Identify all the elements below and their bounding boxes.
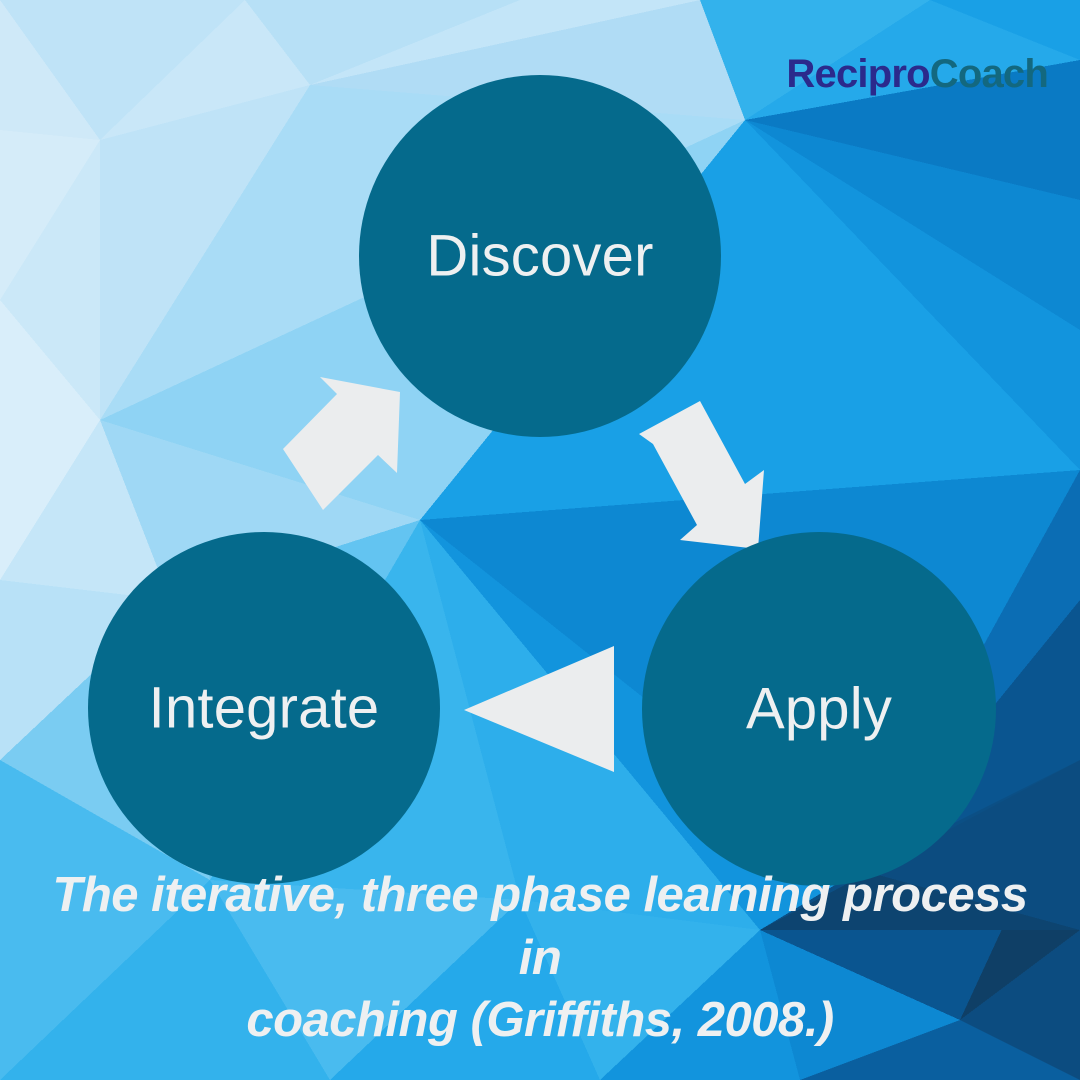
caption: The iterative, three phase learning proc…	[0, 864, 1080, 1052]
reciprocoach-logo[interactable]: ReciproCoach	[786, 52, 1048, 97]
node-label-discover: Discover	[426, 223, 653, 290]
node-label-apply: Apply	[746, 676, 892, 743]
logo-word-coach: Coach	[930, 52, 1048, 96]
logo-word-recipro: Recipro	[786, 52, 929, 96]
caption-line-2: coaching (Griffiths, 2008.)	[26, 989, 1054, 1052]
node-label-integrate: Integrate	[149, 675, 380, 742]
caption-line-1: The iterative, three phase learning proc…	[26, 864, 1054, 989]
arrow-integrate-to-discover	[283, 377, 400, 510]
arrow-apply-to-integrate	[464, 646, 614, 772]
arrow-discover-to-apply	[639, 401, 764, 549]
infographic-canvas: Discover Integrate Apply ReciproCoach Th…	[0, 0, 1080, 1080]
